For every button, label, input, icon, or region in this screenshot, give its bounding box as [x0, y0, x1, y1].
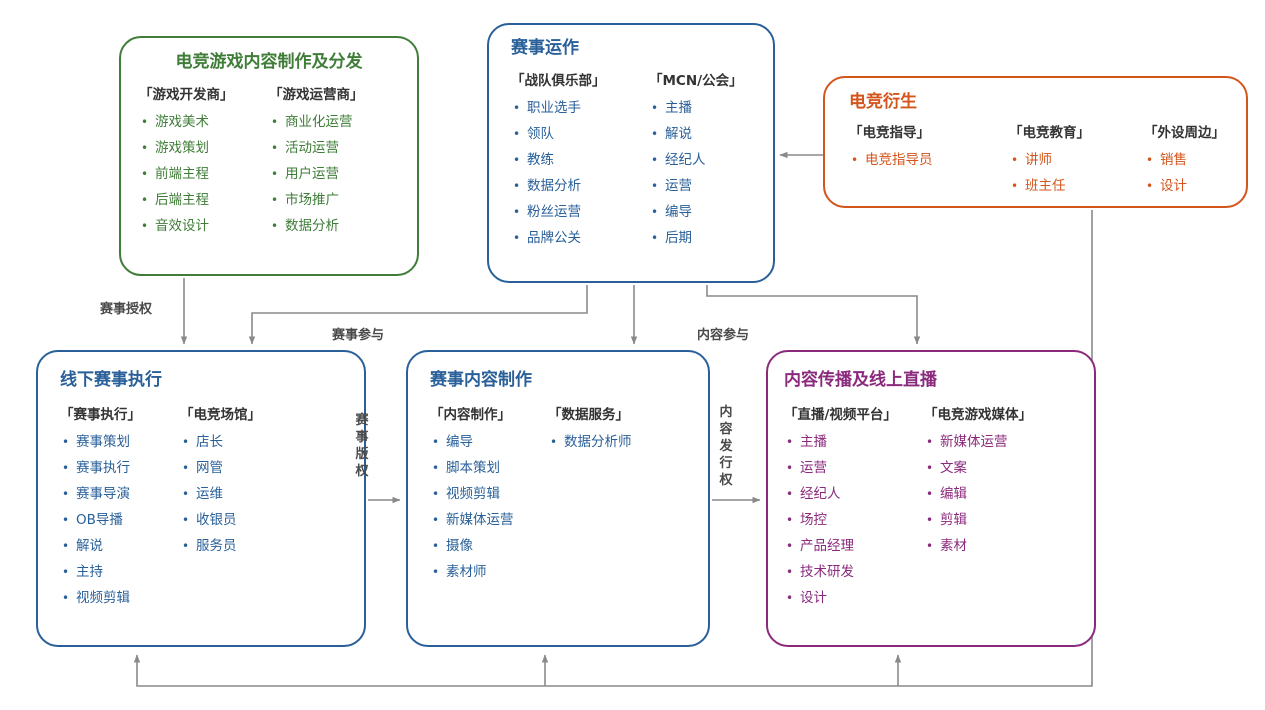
group-item-list: 新媒体运营 文案 编辑 剪辑 素材 [924, 429, 1032, 559]
list-item: 剪辑 [924, 507, 1032, 533]
group-esports-venue: 「电竞场馆」 店长 网管 运维 收银员 服务员 [180, 406, 261, 611]
group-item-list: 游戏美术 游戏策划 前端主程 后端主程 音效设计 [139, 109, 269, 239]
group-label: 「战队俱乐部」 [511, 72, 649, 90]
list-item: 编导 [649, 199, 743, 225]
group-label: 「游戏开发商」 [139, 86, 269, 104]
list-item: 新媒体运营 [430, 507, 548, 533]
edge-label-authorization: 赛事授权 [100, 302, 152, 318]
group-data-service: 「数据服务」 数据分析师 [548, 406, 632, 585]
group-item-list: 电竞指导员 [849, 147, 1009, 173]
group-esports-education: 「电竞教育」 讲师 班主任 [1009, 124, 1144, 199]
list-item: 后期 [649, 225, 743, 251]
list-item: 销售 [1144, 147, 1225, 173]
group-label: 「数据服务」 [548, 406, 632, 424]
box-content-title: 赛事内容制作 [430, 370, 708, 390]
box-game-content-production[interactable]: 电竞游戏内容制作及分发 「游戏开发商」 游戏美术 游戏策划 前端主程 后端主程 … [119, 36, 419, 276]
box-offline-columns: 「赛事执行」 赛事策划 赛事执行 赛事导演 OB导播 解说 主持 视频剪辑 「电… [60, 406, 364, 611]
group-label: 「游戏运营商」 [269, 86, 399, 104]
list-item: 活动运营 [269, 135, 399, 161]
list-item: 主播 [649, 95, 743, 121]
group-label: 「电竞场馆」 [180, 406, 261, 424]
group-item-list: 销售 设计 [1144, 147, 1225, 199]
list-item: 编辑 [924, 481, 1032, 507]
list-item: 运营 [784, 455, 924, 481]
list-item: 电竞指导员 [849, 147, 1009, 173]
list-item: 讲师 [1009, 147, 1144, 173]
box-event-columns: 「战队俱乐部」 职业选手 领队 教练 数据分析 粉丝运营 品牌公关 「MCN/公… [511, 72, 773, 251]
list-item: 技术研发 [784, 559, 924, 585]
list-item: 文案 [924, 455, 1032, 481]
list-item: 数据分析师 [548, 429, 632, 455]
group-content-production: 「内容制作」 编导 脚本策划 视频剪辑 新媒体运营 摄像 素材师 [430, 406, 548, 585]
list-item: 网管 [180, 455, 261, 481]
list-item: 解说 [60, 533, 180, 559]
list-item: 场控 [784, 507, 924, 533]
list-item: 游戏策划 [139, 135, 269, 161]
list-item: 市场推广 [269, 187, 399, 213]
group-item-list: 编导 脚本策划 视频剪辑 新媒体运营 摄像 素材师 [430, 429, 548, 585]
list-item: 运营 [649, 173, 743, 199]
list-item: 经纪人 [784, 481, 924, 507]
group-label: 「电竞教育」 [1009, 124, 1144, 142]
list-item: 数据分析 [269, 213, 399, 239]
edge-label-content-participation: 内容参与 [697, 328, 749, 344]
list-item: 视频剪辑 [430, 481, 548, 507]
box-derivative-columns: 「电竞指导」 电竞指导员 「电竞教育」 讲师 班主任 「外设周边」 销售 设计 [849, 124, 1246, 199]
list-item: 脚本策划 [430, 455, 548, 481]
list-item: 音效设计 [139, 213, 269, 239]
list-item: 素材师 [430, 559, 548, 585]
list-item: 经纪人 [649, 147, 743, 173]
edge-label-event-copyright: 赛事版权 [355, 412, 369, 480]
edge-label-content-distribution-right: 内容发行权 [719, 404, 733, 489]
box-offline-title: 线下赛事执行 [60, 370, 364, 390]
box-esports-derivative[interactable]: 电竞衍生 「电竞指导」 电竞指导员 「电竞教育」 讲师 班主任 「外设周边」 销… [823, 76, 1248, 208]
list-item: 设计 [784, 585, 924, 611]
list-item: 设计 [1144, 173, 1225, 199]
list-item: OB导播 [60, 507, 180, 533]
list-item: 品牌公关 [511, 225, 649, 251]
group-item-list: 主播 运营 经纪人 场控 产品经理 技术研发 设计 [784, 429, 924, 611]
list-item: 运维 [180, 481, 261, 507]
list-item: 收银员 [180, 507, 261, 533]
list-item: 前端主程 [139, 161, 269, 187]
list-item: 职业选手 [511, 95, 649, 121]
group-esports-media: 「电竞游戏媒体」 新媒体运营 文案 编辑 剪辑 素材 [924, 406, 1032, 611]
list-item: 店长 [180, 429, 261, 455]
list-item: 服务员 [180, 533, 261, 559]
group-item-list: 赛事策划 赛事执行 赛事导演 OB导播 解说 主持 视频剪辑 [60, 429, 180, 611]
group-mcn-guild: 「MCN/公会」 主播 解说 经纪人 运营 编导 后期 [649, 72, 743, 251]
list-item: 数据分析 [511, 173, 649, 199]
group-item-list: 商业化运营 活动运营 用户运营 市场推广 数据分析 [269, 109, 399, 239]
box-distribution-columns: 「直播/视频平台」 主播 运营 经纪人 场控 产品经理 技术研发 设计 「电竞游… [784, 406, 1094, 611]
list-item: 赛事执行 [60, 455, 180, 481]
box-offline-event-execution[interactable]: 线下赛事执行 「赛事执行」 赛事策划 赛事执行 赛事导演 OB导播 解说 主持 … [36, 350, 366, 647]
list-item: 粉丝运营 [511, 199, 649, 225]
box-distribution-title: 内容传播及线上直播 [784, 370, 1094, 390]
group-item-list: 讲师 班主任 [1009, 147, 1144, 199]
group-game-operator: 「游戏运营商」 商业化运营 活动运营 用户运营 市场推广 数据分析 [269, 86, 399, 239]
list-item: 商业化运营 [269, 109, 399, 135]
list-item: 后端主程 [139, 187, 269, 213]
group-livestream-platform: 「直播/视频平台」 主播 运营 经纪人 场控 产品经理 技术研发 设计 [784, 406, 924, 611]
box-event-title: 赛事运作 [511, 38, 773, 58]
group-item-list: 店长 网管 运维 收银员 服务员 [180, 429, 261, 559]
group-esports-coaching: 「电竞指导」 电竞指导员 [849, 124, 1009, 199]
box-event-operation[interactable]: 赛事运作 「战队俱乐部」 职业选手 领队 教练 数据分析 粉丝运营 品牌公关 「… [487, 23, 775, 283]
box-content-columns: 「内容制作」 编导 脚本策划 视频剪辑 新媒体运营 摄像 素材师 「数据服务」 … [430, 406, 708, 585]
group-team-club: 「战队俱乐部」 职业选手 领队 教练 数据分析 粉丝运营 品牌公关 [511, 72, 649, 251]
box-derivative-title: 电竞衍生 [849, 92, 1246, 112]
list-item: 教练 [511, 147, 649, 173]
list-item: 解说 [649, 121, 743, 147]
list-item: 视频剪辑 [60, 585, 180, 611]
list-item: 产品经理 [784, 533, 924, 559]
list-item: 领队 [511, 121, 649, 147]
group-event-execution: 「赛事执行」 赛事策划 赛事执行 赛事导演 OB导播 解说 主持 视频剪辑 [60, 406, 180, 611]
list-item: 新媒体运营 [924, 429, 1032, 455]
list-item: 摄像 [430, 533, 548, 559]
list-item: 游戏美术 [139, 109, 269, 135]
list-item: 赛事导演 [60, 481, 180, 507]
box-game-columns: 「游戏开发商」 游戏美术 游戏策划 前端主程 后端主程 音效设计 「游戏运营商」… [121, 86, 417, 239]
group-game-developer: 「游戏开发商」 游戏美术 游戏策划 前端主程 后端主程 音效设计 [139, 86, 269, 239]
group-label: 「直播/视频平台」 [784, 406, 924, 424]
group-item-list: 数据分析师 [548, 429, 632, 455]
edge-event-to-offline [252, 285, 587, 344]
box-event-content-production[interactable]: 赛事内容制作 「内容制作」 编导 脚本策划 视频剪辑 新媒体运营 摄像 素材师 … [406, 350, 710, 647]
list-item: 主播 [784, 429, 924, 455]
group-label: 「内容制作」 [430, 406, 548, 424]
diagram-canvas: 电竞游戏内容制作及分发 「游戏开发商」 游戏美术 游戏策划 前端主程 后端主程 … [0, 0, 1265, 710]
group-label: 「电竞游戏媒体」 [924, 406, 1032, 424]
group-label: 「电竞指导」 [849, 124, 1009, 142]
edge-label-participation: 赛事参与 [332, 328, 384, 344]
list-item: 素材 [924, 533, 1032, 559]
group-item-list: 职业选手 领队 教练 数据分析 粉丝运营 品牌公关 [511, 95, 649, 251]
list-item: 用户运营 [269, 161, 399, 187]
group-label: 「外设周边」 [1144, 124, 1225, 142]
list-item: 赛事策划 [60, 429, 180, 455]
group-item-list: 主播 解说 经纪人 运营 编导 后期 [649, 95, 743, 251]
box-content-distribution-livestream[interactable]: 内容传播及线上直播 「直播/视频平台」 主播 运营 经纪人 场控 产品经理 技术… [766, 350, 1096, 647]
box-game-title: 电竞游戏内容制作及分发 [121, 52, 417, 72]
list-item: 班主任 [1009, 173, 1144, 199]
group-label: 「MCN/公会」 [649, 72, 743, 90]
group-label: 「赛事执行」 [60, 406, 180, 424]
list-item: 编导 [430, 429, 548, 455]
list-item: 主持 [60, 559, 180, 585]
group-peripherals: 「外设周边」 销售 设计 [1144, 124, 1225, 199]
